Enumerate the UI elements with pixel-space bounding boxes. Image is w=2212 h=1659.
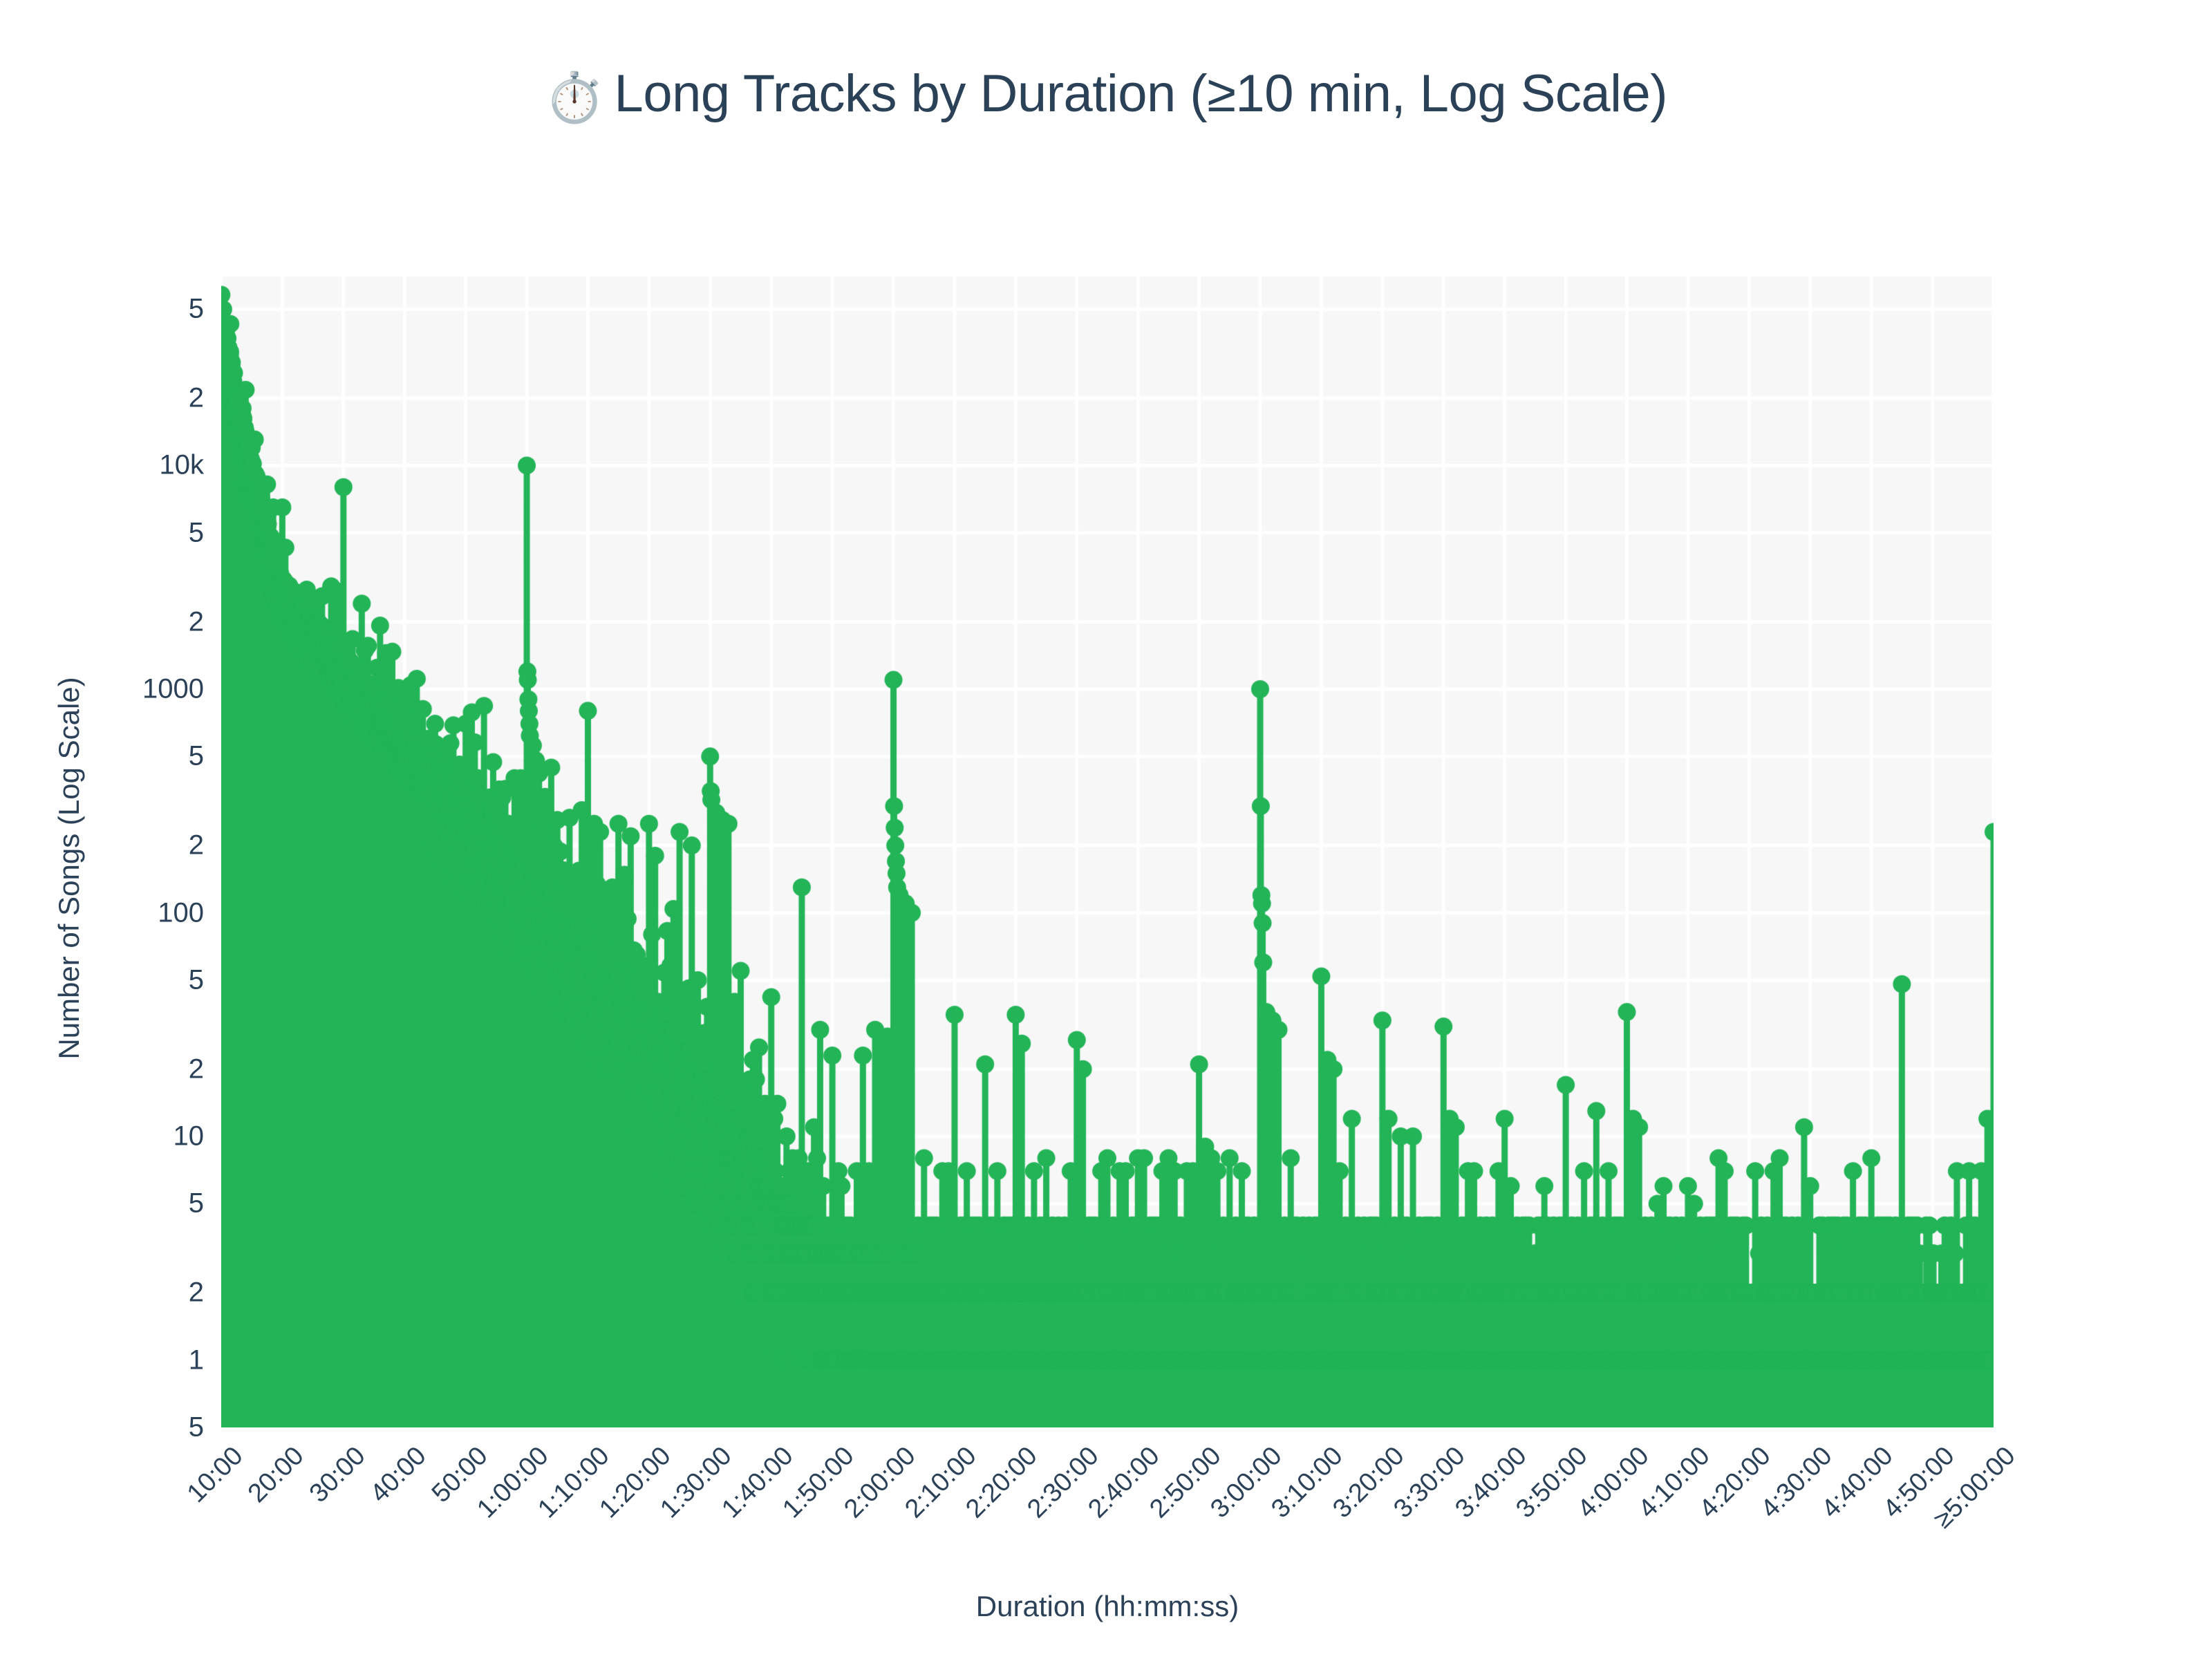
chart-figure: ⏱️Long Tracks by Duration (≥10 min, Log … xyxy=(0,0,2212,1659)
y-tick-label: 1000 xyxy=(0,673,204,704)
stopwatch-icon: ⏱️ xyxy=(545,71,605,124)
plot-area xyxy=(221,276,1994,1427)
y-tick-label: 2 xyxy=(0,830,204,861)
y-tick-label: 2 xyxy=(0,1277,204,1309)
y-tick-label: 5 xyxy=(0,1188,204,1219)
y-tick-label: 1 xyxy=(0,1344,204,1376)
page-title: ⏱️Long Tracks by Duration (≥10 min, Log … xyxy=(0,64,2212,126)
y-tick-label: 2 xyxy=(0,383,204,414)
y-tick-label: 2 xyxy=(0,606,204,637)
page-title-text: Long Tracks by Duration (≥10 min, Log Sc… xyxy=(615,64,1668,123)
y-tick-label: 5 xyxy=(0,964,204,995)
stem-plot-canvas xyxy=(221,276,1994,1427)
y-tick-label: 5 xyxy=(0,517,204,548)
y-tick-label: 10k xyxy=(0,450,204,481)
y-tick-label: 2 xyxy=(0,1053,204,1085)
y-tick-label: 100 xyxy=(0,897,204,928)
y-axis-title: Number of Songs (Log Scale) xyxy=(53,557,86,1179)
y-tick-label: 10 xyxy=(0,1121,204,1152)
y-tick-label: 5 xyxy=(0,741,204,772)
y-tick-label: 5 xyxy=(0,1412,204,1443)
y-tick-label: 5 xyxy=(0,294,204,325)
